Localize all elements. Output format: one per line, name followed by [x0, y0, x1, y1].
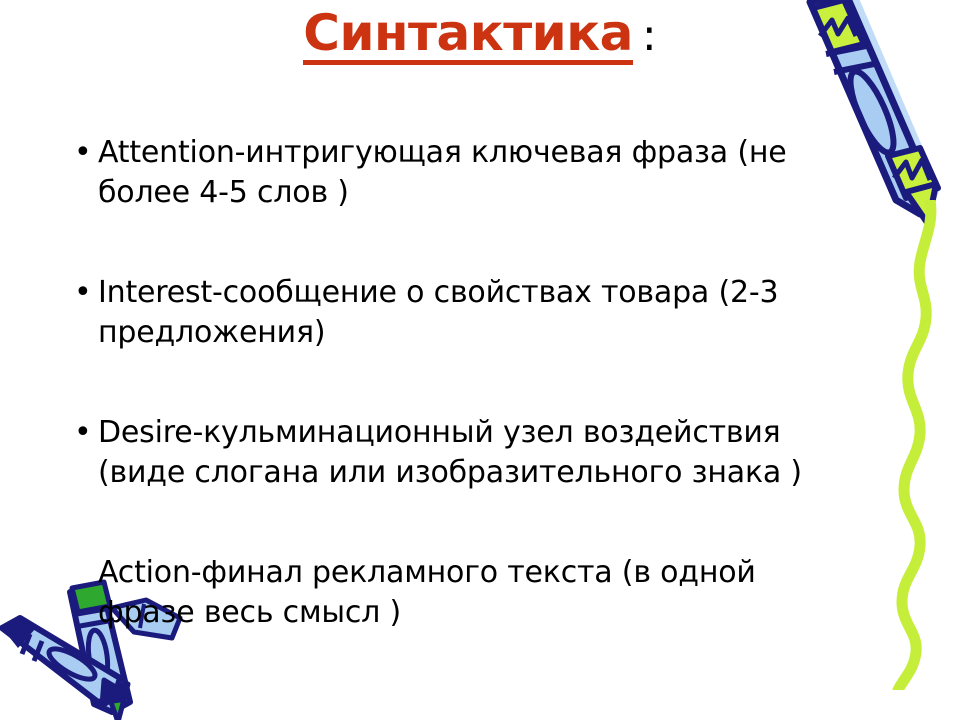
- bullet-marker-icon: •: [66, 273, 98, 313]
- list-item-line-1: Attention-интригующая ключевая фраза (не: [98, 135, 787, 170]
- slide-canvas: Синтактика: • Attention-интригующая ключ…: [0, 0, 960, 720]
- list-item-text: Attention-интригующая ключевая фраза (не…: [98, 133, 928, 213]
- list-item-line-2: предложения): [98, 313, 928, 353]
- list-item: • Attention-интригующая ключевая фраза (…: [66, 133, 928, 213]
- title-colon: :: [642, 10, 657, 61]
- list-item-line-2: более 4-5 слов ): [98, 173, 928, 213]
- list-item-text: Desire-кульминационный узел воздействия …: [98, 413, 928, 493]
- list-item-line-1: Action-финал рекламного текста (в одной: [98, 555, 756, 590]
- list-item-line-1: Desire-кульминационный узел воздействия: [98, 415, 781, 450]
- list-item: • Interest-сообщение о свойствах товара …: [66, 273, 928, 353]
- list-item-line-2: (виде слогана или изобразительного знака…: [98, 453, 928, 493]
- title-text: Синтактика: [303, 8, 633, 65]
- slide-text-layer: Синтактика: • Attention-интригующая ключ…: [0, 0, 960, 720]
- list-item: • Desire-кульминационный узел воздействи…: [66, 413, 928, 493]
- bullet-marker-icon: •: [66, 133, 98, 173]
- list-item-text: Action-финал рекламного текста (в одной …: [98, 553, 928, 633]
- list-item: Action-финал рекламного текста (в одной …: [66, 553, 928, 633]
- bullet-marker-icon: •: [66, 413, 98, 453]
- list-item-line-2: фразе весь смысл ): [98, 593, 928, 633]
- list-item-line-1: Interest-сообщение о свойствах товара (2…: [98, 275, 778, 310]
- page-title: Синтактика:: [0, 8, 960, 65]
- list-item-text: Interest-сообщение о свойствах товара (2…: [98, 273, 928, 353]
